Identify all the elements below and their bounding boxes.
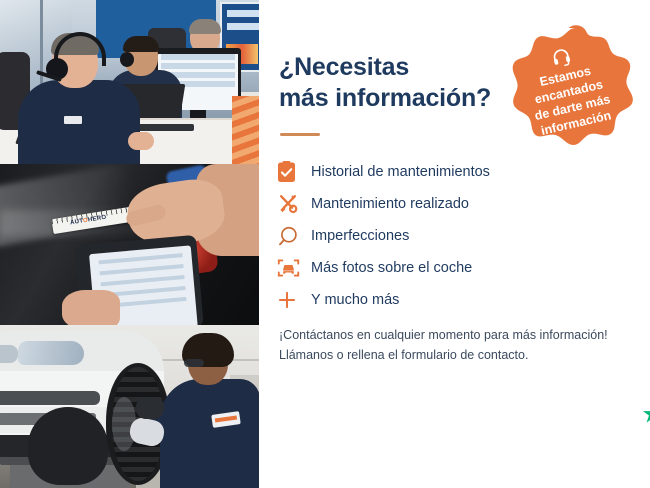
trustpilot-widget[interactable]: Trustpilot Excelente (642, 390, 650, 450)
clipboard-check-icon (277, 159, 311, 185)
trustpilot-star-icon (642, 403, 650, 425)
hand-holding-tablet (62, 290, 120, 325)
car-photo-frame-icon (277, 255, 311, 281)
feature-item-mas: Y mucho más (277, 284, 637, 316)
feature-label: Imperfecciones (311, 227, 409, 245)
rear-wheel (28, 407, 108, 485)
feature-item-historial: Historial de mantenimientos (277, 156, 637, 188)
badge-text: Estamos encantados de darte más informac… (514, 57, 627, 142)
trustpilot-logo[interactable]: Trustpilot (642, 402, 650, 426)
orange-rack (232, 96, 259, 164)
feature-label: Más fotos sobre el coche (311, 259, 472, 277)
feature-item-mantenimiento: Mantenimiento realizado (277, 188, 637, 220)
plus-icon (277, 287, 311, 313)
title-divider (280, 133, 320, 136)
contact-line-two: Llámanos o rellena el formulario de cont… (279, 345, 639, 365)
headset-icon (549, 45, 573, 69)
promo-badge: Estamos encantados de darte más informac… (502, 24, 635, 157)
car-inspection-ruler-photo: AUTOHERO (0, 164, 259, 325)
contact-line-one: ¡Contáctanos en cualquier momento para m… (279, 325, 639, 345)
photo-column: AUTOHERO (0, 0, 259, 488)
feature-label: Mantenimiento realizado (311, 195, 469, 213)
agent-one (18, 36, 140, 164)
magnifier-icon (277, 223, 311, 249)
contact-text: ¡Contáctanos en cualquier momento para m… (279, 325, 639, 365)
page-title: ¿Necesitas más información? (279, 52, 529, 114)
feature-label: Historial de mantenimientos (311, 163, 490, 181)
mechanic-wheel-photo (0, 325, 259, 488)
tools-icon (277, 191, 311, 217)
content-panel: ¿Necesitas más información? Estamos enca… (259, 0, 650, 488)
information-banner: AUTOHERO (0, 0, 650, 488)
mechanic (160, 335, 259, 488)
feature-list: Historial de mantenimientos Mantenimient… (277, 156, 637, 316)
page-title-line-two: más información? (279, 83, 529, 114)
call-center-agents-photo (0, 0, 259, 164)
feature-item-imperfecciones: Imperfecciones (277, 220, 637, 252)
feature-item-fotos: Más fotos sobre el coche (277, 252, 637, 284)
feature-label: Y mucho más (311, 291, 399, 309)
